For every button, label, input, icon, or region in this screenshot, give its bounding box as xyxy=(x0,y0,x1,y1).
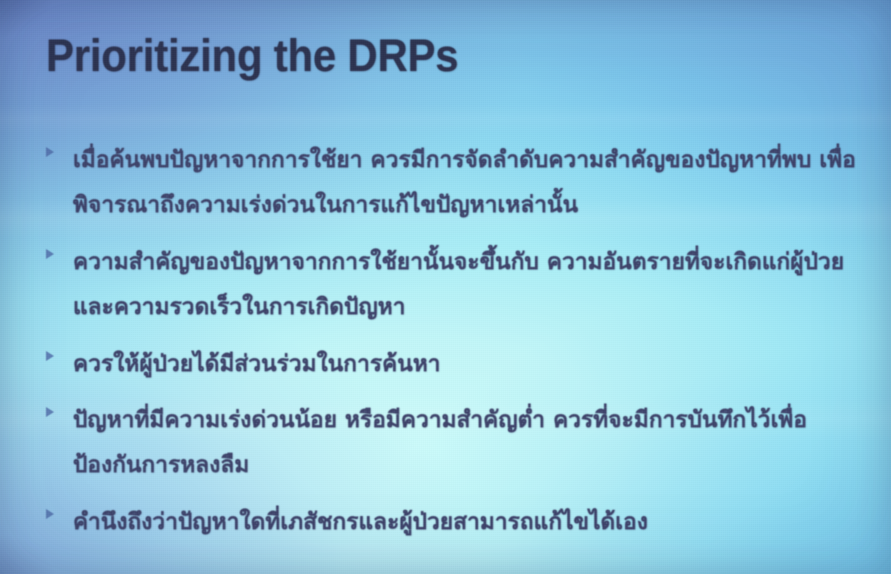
photo-sensor-noise xyxy=(0,0,891,574)
projected-slide-photo: Prioritizing the DRPs เมื่อค้นพบปัญหาจาก… xyxy=(0,0,891,574)
